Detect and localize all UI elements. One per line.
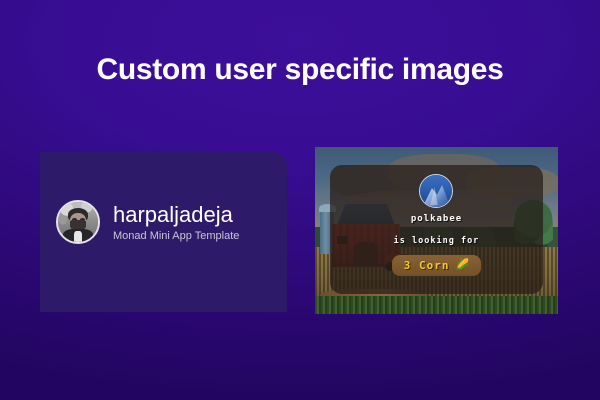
mountain-avatar: [419, 174, 453, 208]
avatar-shirt: [74, 231, 82, 244]
profile-subtitle: Monad Mini App Template: [113, 229, 239, 243]
corn-icon: 🌽: [456, 260, 470, 271]
user-photo-avatar: [56, 200, 100, 244]
game-overlay-panel: polkabee is looking for 3 Corn 🌽: [330, 165, 544, 294]
game-username: polkabee: [411, 213, 462, 225]
app-stage: Custom user specific images harpaljadeja: [0, 0, 600, 400]
game-tagline: is looking for: [394, 235, 480, 247]
profile-username: harpaljadeja: [113, 202, 239, 227]
reward-label: 3 Corn: [404, 259, 450, 272]
reward-badge[interactable]: 3 Corn 🌽: [392, 255, 481, 276]
page-title: Custom user specific images: [0, 52, 600, 88]
profile-card[interactable]: harpaljadeja Monad Mini App Template: [40, 152, 287, 312]
game-card[interactable]: polkabee is looking for 3 Corn 🌽: [315, 147, 558, 314]
profile-card-content: harpaljadeja Monad Mini App Template: [56, 200, 239, 244]
scene-grass: [315, 296, 558, 314]
profile-text-block: harpaljadeja Monad Mini App Template: [113, 202, 239, 243]
cards-row: harpaljadeja Monad Mini App Template: [0, 147, 600, 317]
game-panel-content: polkabee is looking for 3 Corn 🌽: [330, 165, 544, 294]
